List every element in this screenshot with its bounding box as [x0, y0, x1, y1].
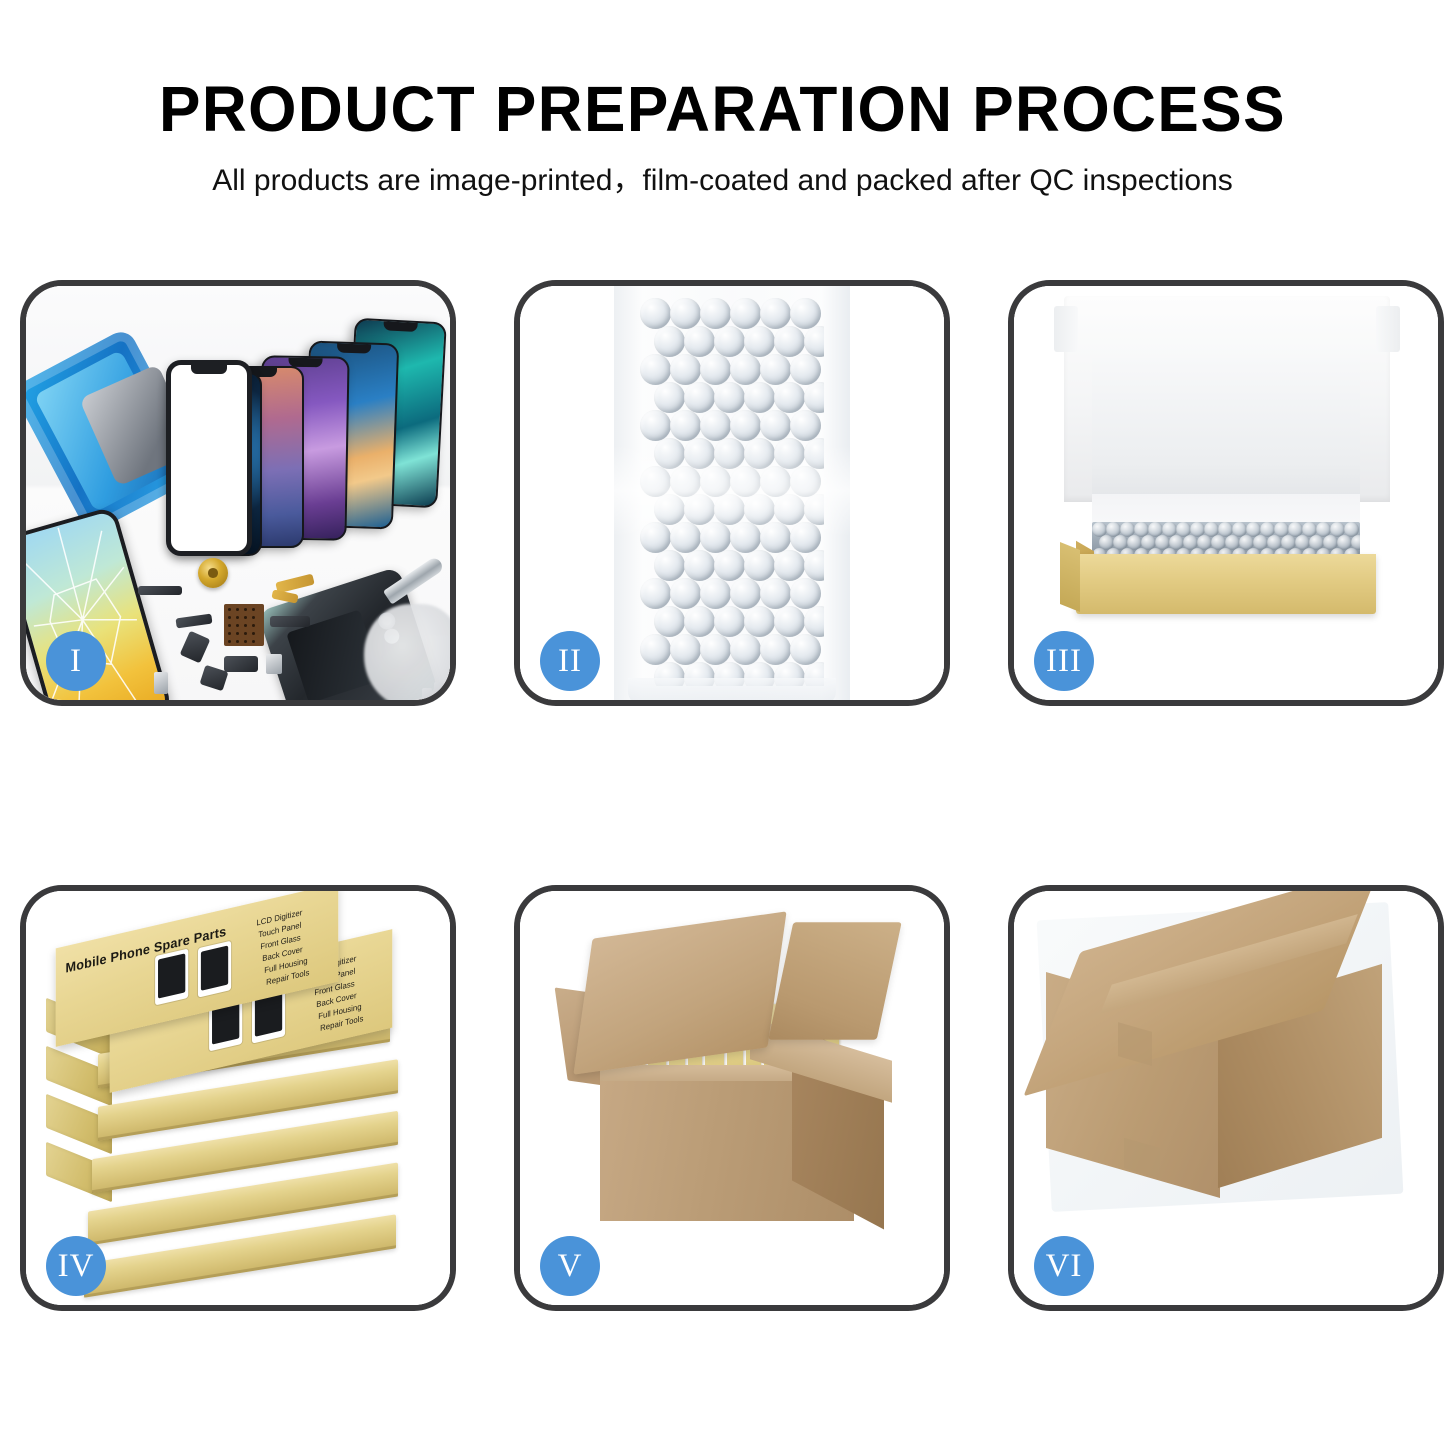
bubble — [790, 634, 821, 665]
bubble — [684, 494, 715, 525]
bubble — [790, 354, 821, 385]
page-title: PRODUCT PREPARATION PROCESS — [22, 72, 1424, 146]
bubble — [804, 438, 824, 469]
bubble — [730, 298, 761, 329]
bubble — [700, 522, 731, 553]
bubble — [744, 494, 775, 525]
bubble — [640, 354, 671, 385]
bubble — [670, 578, 701, 609]
header: PRODUCT PREPARATION PROCESS All products… — [0, 0, 1445, 250]
bubble — [714, 438, 745, 469]
bubble — [804, 606, 824, 637]
bubble — [730, 578, 761, 609]
bubble — [654, 606, 685, 637]
bubble — [744, 326, 775, 357]
box-back-wall — [1092, 358, 1360, 508]
bubble — [760, 634, 791, 665]
box-screen-image-a — [155, 949, 188, 1006]
bubble-wrap-bag — [614, 286, 850, 700]
bubble — [684, 382, 715, 413]
bubble — [640, 578, 671, 609]
bubble — [654, 494, 685, 525]
bubble — [700, 634, 731, 665]
bubble — [804, 382, 824, 413]
step-badge-2: II — [540, 631, 600, 691]
bubble — [640, 634, 671, 665]
bubble — [640, 466, 671, 497]
hand-blur-element — [364, 604, 450, 700]
bubble — [714, 550, 745, 581]
product-preparation-infographic: PRODUCT PREPARATION PROCESS All products… — [0, 0, 1445, 1445]
bubble — [804, 494, 824, 525]
bubble — [774, 606, 805, 637]
ic-chip-component — [224, 604, 264, 646]
open-carton — [554, 915, 910, 1253]
bag-seal — [628, 678, 836, 700]
vibrator-component — [266, 654, 282, 674]
bubble — [760, 522, 791, 553]
bubble — [774, 382, 805, 413]
bubble — [804, 326, 824, 357]
bubble — [744, 606, 775, 637]
step-card-6: VI — [1008, 885, 1444, 1311]
bubble — [730, 522, 761, 553]
bubble — [744, 550, 775, 581]
bubble — [774, 494, 805, 525]
bubble — [790, 578, 821, 609]
bubble — [760, 466, 791, 497]
step-badge-6: VI — [1034, 1236, 1094, 1296]
bubble — [670, 466, 701, 497]
bubble — [700, 466, 731, 497]
bubble — [790, 298, 821, 329]
carton-flap-right — [768, 922, 901, 1039]
step-badge-1: I — [46, 631, 106, 691]
sealed-carton — [1028, 905, 1422, 1249]
bubble — [804, 550, 824, 581]
bubble — [700, 354, 731, 385]
step-card-3: III — [1008, 280, 1444, 706]
bubble — [670, 354, 701, 385]
bubble-field — [640, 298, 824, 686]
connector-component-3 — [270, 616, 310, 627]
bubble — [714, 494, 745, 525]
bubble — [760, 298, 791, 329]
bubble — [684, 438, 715, 469]
earpiece-component — [138, 586, 182, 595]
bubble — [670, 410, 701, 441]
front-glass-part — [166, 360, 252, 556]
bubble — [774, 438, 805, 469]
bubble — [714, 326, 745, 357]
box-screen-image-b — [198, 941, 231, 998]
bubble — [730, 354, 761, 385]
open-mailer-box — [1052, 296, 1400, 626]
bubble — [714, 382, 745, 413]
bubble — [640, 522, 671, 553]
step-badge-3: III — [1034, 631, 1094, 691]
bubble — [730, 466, 761, 497]
speaker-component — [198, 558, 228, 588]
step-badge-4: IV — [46, 1236, 106, 1296]
bubble — [760, 578, 791, 609]
bubble — [654, 326, 685, 357]
bubble — [654, 550, 685, 581]
bubble — [760, 410, 791, 441]
bubble — [700, 410, 731, 441]
bubble — [654, 382, 685, 413]
step-card-1: I — [20, 280, 456, 706]
bubble — [670, 522, 701, 553]
bubble — [774, 326, 805, 357]
bubble — [730, 634, 761, 665]
step-badge-5: V — [540, 1236, 600, 1296]
bubble — [774, 550, 805, 581]
step-card-5: V — [514, 885, 950, 1311]
page-subtitle: All products are image-printed，film-coat… — [0, 155, 1445, 199]
bubble — [684, 550, 715, 581]
bubble — [790, 410, 821, 441]
button-component — [224, 656, 258, 672]
bubble — [790, 466, 821, 497]
bubble — [760, 354, 791, 385]
bubble — [700, 578, 731, 609]
bubble — [670, 634, 701, 665]
bubble — [684, 606, 715, 637]
step-card-2: II — [514, 280, 950, 706]
bubble — [640, 298, 671, 329]
bubble — [744, 438, 775, 469]
bubble — [744, 382, 775, 413]
bubble — [714, 606, 745, 637]
bubble — [790, 522, 821, 553]
box-front-wall — [1076, 554, 1376, 614]
bubble — [640, 410, 671, 441]
bubble — [654, 438, 685, 469]
bubble — [670, 298, 701, 329]
step-card-4: Mobile Phone Spare Parts LCD Digitizer T… — [20, 885, 456, 1311]
bubble — [684, 326, 715, 357]
bubble — [700, 298, 731, 329]
bubble — [730, 410, 761, 441]
sim-tray-component — [154, 672, 168, 694]
gold-box-stack: Mobile Phone Spare Parts LCD Digitizer T… — [32, 911, 442, 1281]
